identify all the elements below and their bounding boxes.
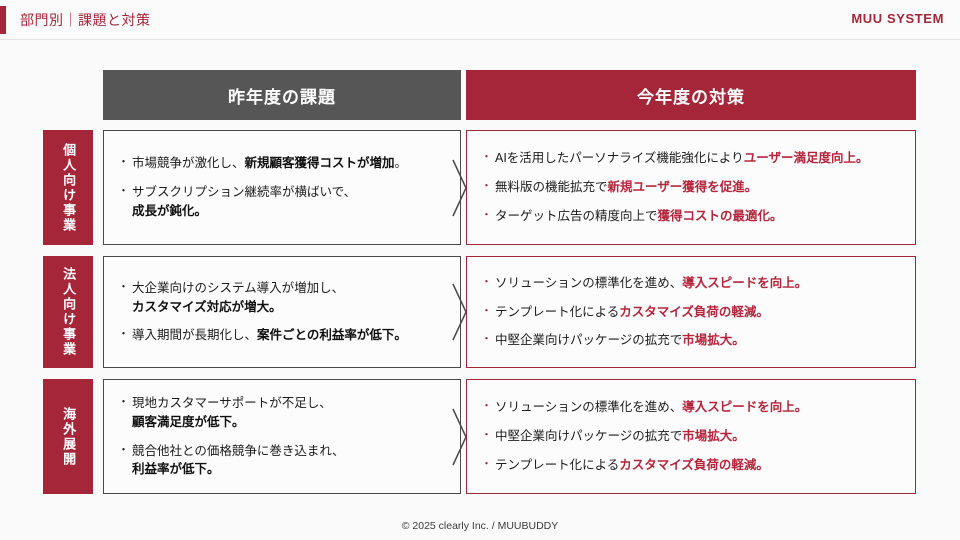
bullet-item: ・大企業向けのシステム導入が増加し、カスタマイズ対応が増大。 [118, 279, 446, 317]
bullet-item: ・競合他社との価格競争に巻き込まれ、利益率が低下。 [118, 442, 446, 480]
bullet-item: ・無料版の機能拡充で新規ユーザー獲得を促進。 [481, 178, 901, 197]
row-label: 個人向け事業 [43, 130, 93, 245]
bullet-text: 中堅企業向けパッケージの拡充で市場拡大。 [495, 331, 901, 350]
bullet-marker-icon: ・ [481, 149, 495, 166]
bullet-text: テンプレート化によるカスタマイズ負荷の軽減。 [495, 303, 901, 322]
bullet-item: ・導入期間が長期化し、案件ごとの利益率が低下。 [118, 326, 446, 345]
bullet-marker-icon: ・ [118, 394, 132, 411]
bullet-item: ・サブスクリプション継続率が横ばいで、成長が鈍化。 [118, 183, 446, 221]
row-label: 海外展開 [43, 379, 93, 494]
bullet-marker-icon: ・ [481, 274, 495, 291]
bullet-item: ・テンプレート化によるカスタマイズ負荷の軽減。 [481, 456, 901, 475]
bullet-marker-icon: ・ [481, 178, 495, 195]
bullet-marker-icon: ・ [118, 183, 132, 200]
measures-box: ・ソリューションの標準化を進め、導入スピードを向上。・中堅企業向けパッケージの拡… [466, 379, 916, 494]
issues-box: ・現地カスタマーサポートが不足し、顧客満足度が低下。・競合他社との価格競争に巻き… [103, 379, 461, 494]
bullet-marker-icon: ・ [481, 427, 495, 444]
issues-box: ・市場競争が激化し、新規顧客獲得コストが増加。・サブスクリプション継続率が横ばい… [103, 130, 461, 245]
bullet-item: ・ターゲット広告の精度向上で獲得コストの最適化。 [481, 207, 901, 226]
bullet-marker-icon: ・ [118, 442, 132, 459]
bullet-item: ・テンプレート化によるカスタマイズ負荷の軽減。 [481, 303, 901, 322]
bullet-marker-icon: ・ [481, 331, 495, 348]
bullet-text: 市場競争が激化し、新規顧客獲得コストが増加。 [132, 154, 446, 173]
bullet-text: ソリューションの標準化を進め、導入スピードを向上。 [495, 274, 901, 293]
bullet-text: 導入期間が長期化し、案件ごとの利益率が低下。 [132, 326, 446, 345]
column-header-issues: 昨年度の課題 [103, 70, 461, 120]
bullet-marker-icon: ・ [481, 456, 495, 473]
bullet-item: ・ソリューションの標準化を進め、導入スピードを向上。 [481, 274, 901, 293]
bullet-text: 中堅企業向けパッケージの拡充で市場拡大。 [495, 427, 901, 446]
bullet-marker-icon: ・ [481, 207, 495, 224]
column-header-measures: 今年度の対策 [466, 70, 916, 120]
bullet-item: ・AIを活用したパーソナライズ機能強化によりユーザー満足度向上。 [481, 149, 901, 168]
bullet-text: 無料版の機能拡充で新規ユーザー獲得を促進。 [495, 178, 901, 197]
bullet-text: ターゲット広告の精度向上で獲得コストの最適化。 [495, 207, 901, 226]
bullet-text: サブスクリプション継続率が横ばいで、成長が鈍化。 [132, 183, 446, 221]
measures-box: ・AIを活用したパーソナライズ機能強化によりユーザー満足度向上。・無料版の機能拡… [466, 130, 916, 245]
bullet-marker-icon: ・ [118, 154, 132, 171]
header-accent-bar [0, 6, 6, 34]
bullet-item: ・中堅企業向けパッケージの拡充で市場拡大。 [481, 427, 901, 446]
row-label: 法人向け事業 [43, 256, 93, 368]
slide-canvas: 部門別｜課題と対策 MUU SYSTEM 昨年度の課題 今年度の対策 個人向け事… [0, 0, 960, 540]
bullet-item: ・ソリューションの標準化を進め、導入スピードを向上。 [481, 398, 901, 417]
bullet-text: テンプレート化によるカスタマイズ負荷の軽減。 [495, 456, 901, 475]
bullet-item: ・市場競争が激化し、新規顧客獲得コストが増加。 [118, 154, 446, 173]
bullet-text: AIを活用したパーソナライズ機能強化によりユーザー満足度向上。 [495, 149, 901, 168]
brand-logo: MUU SYSTEM [851, 11, 944, 26]
issues-box: ・大企業向けのシステム導入が増加し、カスタマイズ対応が増大。・導入期間が長期化し… [103, 256, 461, 368]
bullet-marker-icon: ・ [481, 398, 495, 415]
bullet-marker-icon: ・ [118, 326, 132, 343]
bullet-marker-icon: ・ [481, 303, 495, 320]
bullet-item: ・中堅企業向けパッケージの拡充で市場拡大。 [481, 331, 901, 350]
bullet-text: 大企業向けのシステム導入が増加し、カスタマイズ対応が増大。 [132, 279, 446, 317]
bullet-marker-icon: ・ [118, 279, 132, 296]
page-title: 部門別｜課題と対策 [20, 10, 151, 30]
footer-copyright: © 2025 clearly Inc. / MUUBUDDY [0, 520, 960, 532]
bullet-text: ソリューションの標準化を進め、導入スピードを向上。 [495, 398, 901, 417]
measures-box: ・ソリューションの標準化を進め、導入スピードを向上。・テンプレート化によるカスタ… [466, 256, 916, 368]
bullet-text: 競合他社との価格競争に巻き込まれ、利益率が低下。 [132, 442, 446, 480]
slide-header: 部門別｜課題と対策 MUU SYSTEM [0, 0, 960, 40]
bullet-item: ・現地カスタマーサポートが不足し、顧客満足度が低下。 [118, 394, 446, 432]
bullet-text: 現地カスタマーサポートが不足し、顧客満足度が低下。 [132, 394, 446, 432]
